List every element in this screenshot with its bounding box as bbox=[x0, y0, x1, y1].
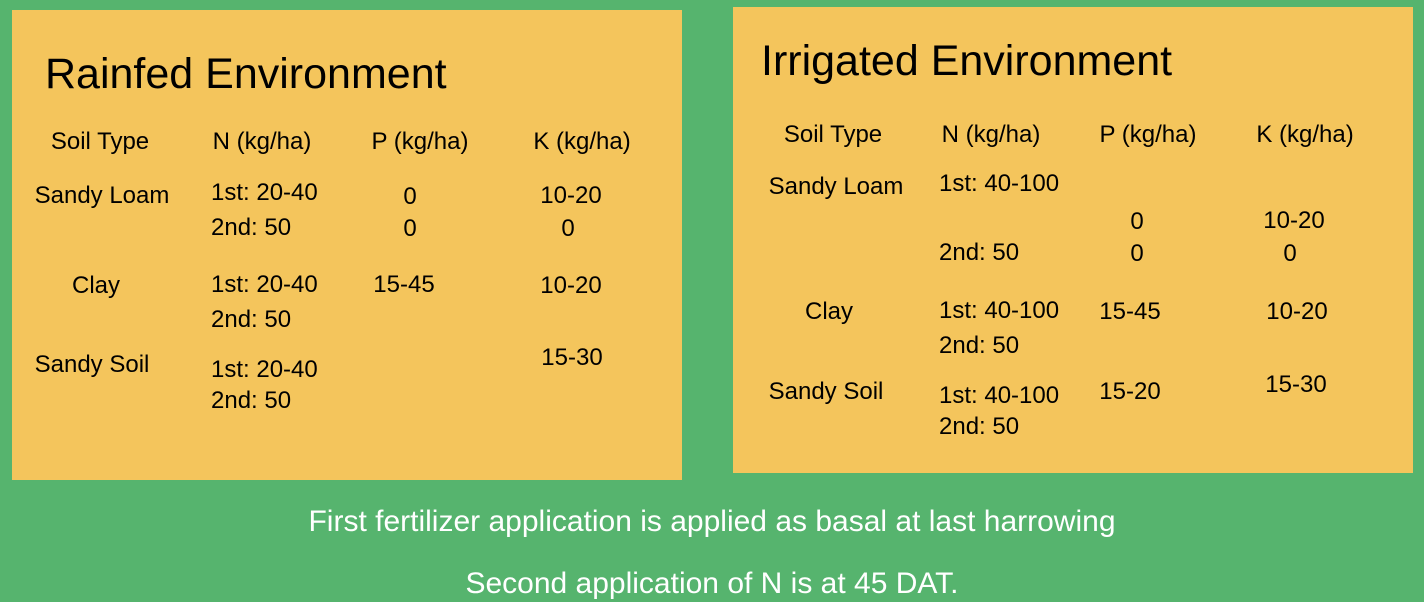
table-row-n-first: 1st: 40-100 bbox=[939, 299, 1059, 323]
table-row-k-first: 10-20 bbox=[1263, 209, 1324, 233]
table-row-n-second: 2nd: 50 bbox=[939, 415, 1019, 439]
column-header-soil-type: Soil Type bbox=[784, 123, 882, 147]
panel-rainfed-environment: Rainfed Environment Soil Type N (kg/ha) … bbox=[12, 10, 682, 480]
table-row-p-second: 0 bbox=[1130, 242, 1143, 266]
table-row-soil-type: Sandy Soil bbox=[769, 380, 884, 404]
column-header-n: N (kg/ha) bbox=[942, 123, 1041, 147]
table-row-n-first: 1st: 20-40 bbox=[211, 273, 318, 297]
table-row-soil-type: Clay bbox=[72, 274, 120, 298]
column-header-soil-type: Soil Type bbox=[51, 130, 149, 154]
table-row-soil-type: Sandy Soil bbox=[35, 353, 150, 377]
table-row-p-first: 15-45 bbox=[1099, 300, 1160, 324]
table-row-k-first: 15-30 bbox=[541, 346, 602, 370]
table-irrigated: Soil Type N (kg/ha) P (kg/ha) K (kg/ha) … bbox=[733, 7, 1413, 473]
table-row-k-first: 10-20 bbox=[540, 274, 601, 298]
table-row-k-first: 10-20 bbox=[540, 184, 601, 208]
table-row-n-second: 2nd: 50 bbox=[939, 241, 1019, 265]
table-row-soil-type: Sandy Loam bbox=[769, 175, 904, 199]
table-row-n-second: 2nd: 50 bbox=[211, 389, 291, 413]
column-header-p: P (kg/ha) bbox=[1100, 123, 1197, 147]
table-row-n-second: 2nd: 50 bbox=[939, 334, 1019, 358]
caption-block: First fertilizer application is applied … bbox=[0, 495, 1424, 599]
table-row-p-first: 0 bbox=[1130, 210, 1143, 234]
column-header-k: K (kg/ha) bbox=[533, 130, 630, 154]
table-row-p-first: 15-20 bbox=[1099, 380, 1160, 404]
table-row-k-second: 0 bbox=[561, 217, 574, 241]
table-row-p-second: 0 bbox=[403, 217, 416, 241]
table-row-k-second: 0 bbox=[1283, 242, 1296, 266]
caption-line-first: First fertilizer application is applied … bbox=[0, 495, 1424, 537]
column-header-p: P (kg/ha) bbox=[372, 130, 469, 154]
table-row-n-second: 2nd: 50 bbox=[211, 308, 291, 332]
table-row-p-first: 15-45 bbox=[373, 273, 434, 297]
table-row-k-first: 10-20 bbox=[1266, 300, 1327, 324]
table-row-n-first: 1st: 40-100 bbox=[939, 384, 1059, 408]
caption-line-second: Second application of N is at 45 DAT. bbox=[0, 537, 1424, 599]
column-header-n: N (kg/ha) bbox=[213, 130, 312, 154]
table-row-n-first: 1st: 20-40 bbox=[211, 181, 318, 205]
table-rainfed: Soil Type N (kg/ha) P (kg/ha) K (kg/ha) … bbox=[12, 10, 682, 480]
table-row-soil-type: Clay bbox=[805, 300, 853, 324]
table-row-n-second: 2nd: 50 bbox=[211, 216, 291, 240]
table-row-soil-type: Sandy Loam bbox=[35, 184, 170, 208]
table-row-p-first: 0 bbox=[403, 185, 416, 209]
table-row-n-first: 1st: 40-100 bbox=[939, 172, 1059, 196]
column-header-k: K (kg/ha) bbox=[1256, 123, 1353, 147]
table-row-k-first: 15-30 bbox=[1265, 373, 1326, 397]
panel-irrigated-environment: Irrigated Environment Soil Type N (kg/ha… bbox=[733, 7, 1413, 473]
table-row-n-first: 1st: 20-40 bbox=[211, 358, 318, 382]
